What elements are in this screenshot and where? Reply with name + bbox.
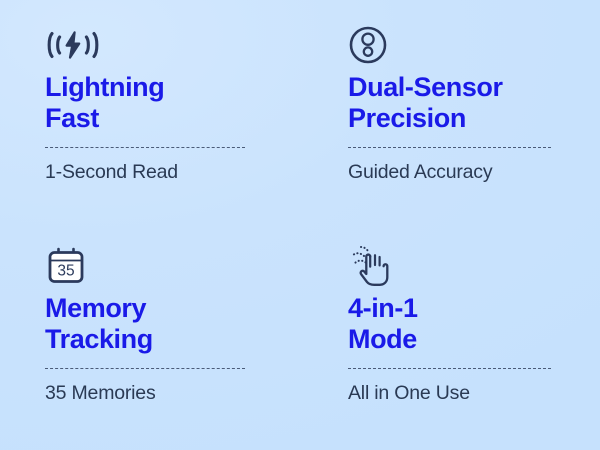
feature-subtitle: 35 Memories bbox=[45, 382, 156, 405]
feature-divider bbox=[348, 147, 551, 148]
feature-subtitle: All in One Use bbox=[348, 382, 470, 405]
feature-divider bbox=[348, 368, 551, 369]
feature-heading: Dual-Sensor Precision bbox=[348, 72, 503, 133]
calendar-35-icon: 35 bbox=[45, 243, 87, 289]
feature-grid-graphic: Lightning Fast 1-Second Read Dual-Sensor… bbox=[0, 0, 600, 450]
wireless-bolt-icon bbox=[45, 22, 101, 68]
feature-subtitle: Guided Accuracy bbox=[348, 161, 492, 184]
feature-divider bbox=[45, 147, 245, 148]
feature-divider bbox=[45, 368, 245, 369]
feature-card-dual-sensor: Dual-Sensor Precision Guided Accuracy bbox=[303, 0, 600, 225]
calendar-icon-label: 35 bbox=[57, 263, 74, 280]
feature-heading: Lightning Fast bbox=[45, 72, 164, 133]
tap-hand-icon bbox=[348, 243, 396, 289]
feature-heading: Memory Tracking bbox=[45, 293, 153, 354]
feature-card-lightning-fast: Lightning Fast 1-Second Read bbox=[0, 0, 303, 225]
dual-sensor-icon bbox=[348, 22, 388, 68]
feature-card-four-in-one-mode: 4-in-1 Mode All in One Use bbox=[303, 225, 600, 450]
feature-grid: Lightning Fast 1-Second Read Dual-Sensor… bbox=[0, 0, 600, 450]
feature-card-memory-tracking: 35 Memory Tracking 35 Memories bbox=[0, 225, 303, 450]
feature-subtitle: 1-Second Read bbox=[45, 161, 178, 184]
feature-heading: 4-in-1 Mode bbox=[348, 293, 418, 354]
